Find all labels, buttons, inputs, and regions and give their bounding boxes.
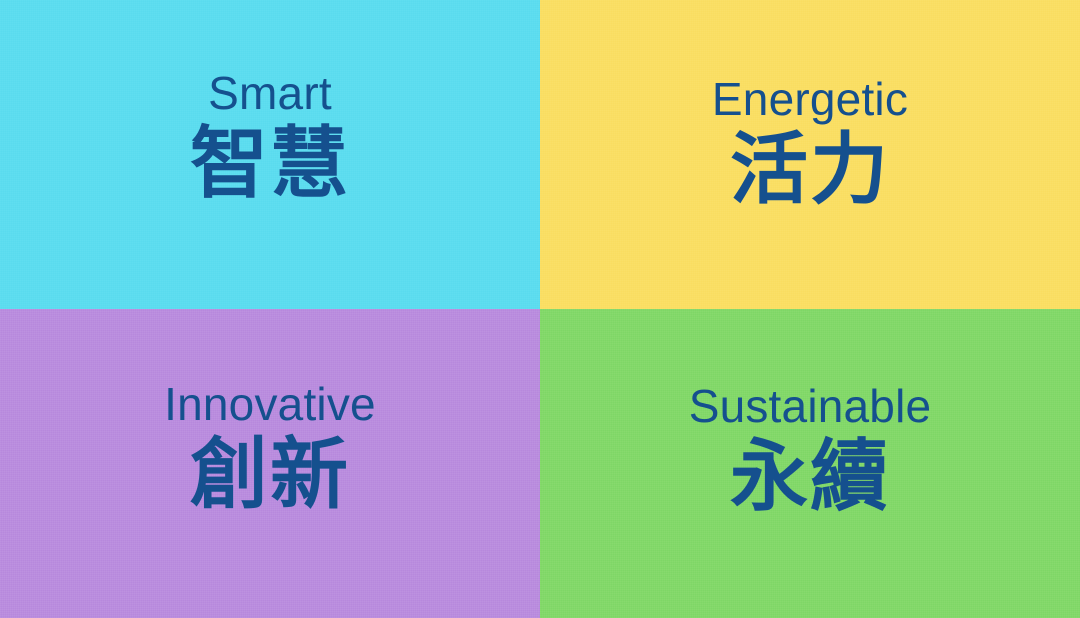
label-en-sustainable: Sustainable <box>689 383 932 429</box>
label-zh-innovative: 創新 <box>190 433 350 517</box>
quadrant-energetic[interactable]: Energetic 活力 <box>540 0 1080 309</box>
quadrant-sustainable[interactable]: Sustainable 永續 <box>540 309 1080 618</box>
label-zh-sustainable: 永續 <box>730 435 890 519</box>
label-en-innovative: Innovative <box>164 381 376 427</box>
label-en-smart: Smart <box>208 70 332 116</box>
text-stack-innovative: Innovative 創新 <box>164 381 376 517</box>
label-zh-energetic: 活力 <box>730 128 890 212</box>
quadrant-smart[interactable]: Smart 智慧 <box>0 0 540 309</box>
brand-values-grid: Smart 智慧 Energetic 活力 Innovative 創新 Sust… <box>0 0 1080 618</box>
label-en-energetic: Energetic <box>712 76 908 122</box>
quadrant-innovative[interactable]: Innovative 創新 <box>0 309 540 618</box>
label-zh-smart: 智慧 <box>190 122 350 206</box>
text-stack-sustainable: Sustainable 永續 <box>689 383 932 519</box>
text-stack-smart: Smart 智慧 <box>190 70 350 206</box>
text-stack-energetic: Energetic 活力 <box>712 76 908 212</box>
